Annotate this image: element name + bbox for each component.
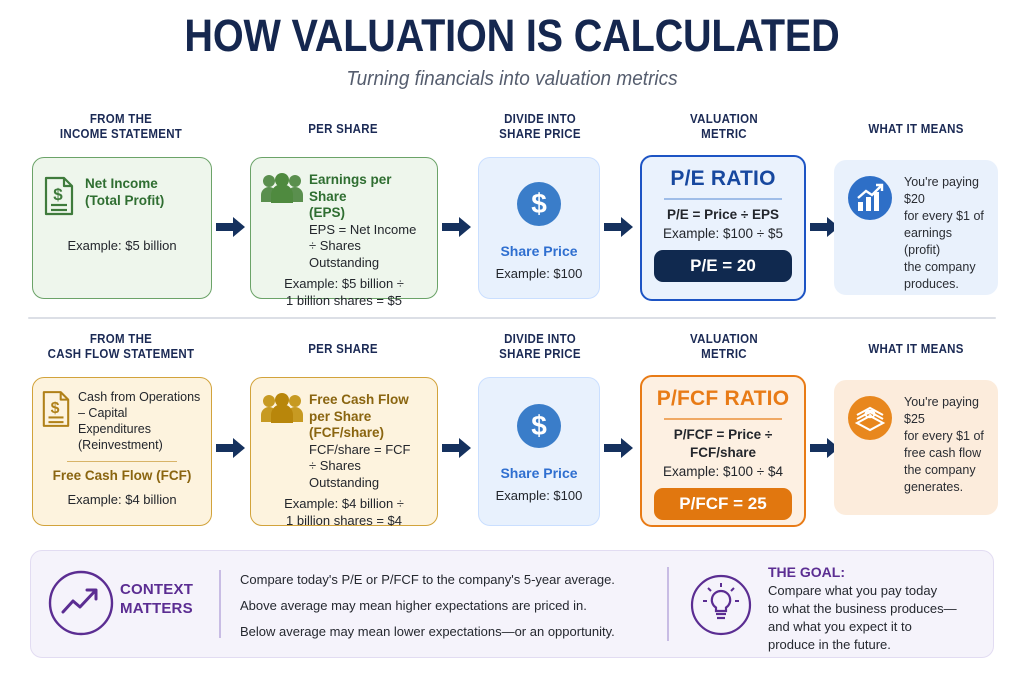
card-eps[interactable]: Earnings per Share (EPS) EPS = Net Incom… <box>250 157 438 299</box>
fcf-title-2: – Capital <box>78 405 203 421</box>
people-group-icon <box>261 172 305 209</box>
means-pe-line1: You're paying $20 <box>904 174 986 208</box>
arrow-right-icon <box>216 216 246 238</box>
divider <box>664 418 782 420</box>
arrow-right-icon <box>604 437 634 459</box>
eps-example-1: Example: $5 billion ÷ <box>261 275 427 292</box>
eps-formula-1: EPS = Net Income <box>309 222 427 239</box>
means-pe-line3: earnings (profit) <box>904 225 986 259</box>
arrow-right-icon <box>216 437 246 459</box>
svg-text:$: $ <box>531 410 547 441</box>
card-share-price-2[interactable]: $ Share Price Example: $100 <box>478 377 600 526</box>
page-title: HOW VALUATION IS CALCULATED <box>61 10 962 62</box>
divider <box>67 461 177 462</box>
goal-line-2: to what the business produces— <box>768 600 983 618</box>
context-line-2: Above average may mean higher expectatio… <box>240 593 640 619</box>
dollar-circle-icon: $ <box>489 402 589 455</box>
share-price-example: Example: $100 <box>489 265 589 282</box>
document-dollar-icon: $ <box>43 176 77 221</box>
means-pfcf-line3: free cash flow <box>904 445 986 462</box>
card-free-cash-flow[interactable]: $ Cash from Operations – Capital Expendi… <box>32 377 212 526</box>
card-what-it-means-pe[interactable]: You're paying $20 for every $1 of earnin… <box>834 160 998 295</box>
fcf-example: Example: $4 billion <box>41 491 203 508</box>
eps-formula-2: ÷ Shares Outstanding <box>309 238 427 271</box>
pfcf-result-badge: P/FCF = 25 <box>654 488 792 520</box>
colheader-source-row1: FROM THE INCOME STATEMENT <box>35 112 206 142</box>
goal-line-3: and what you expect it to <box>768 618 983 636</box>
colheader-pershare-row1: PER SHARE <box>257 122 428 137</box>
dollar-circle-icon: $ <box>489 180 589 233</box>
context-lines: Compare today's P/E or P/FCF to the comp… <box>240 567 640 645</box>
means-pfcf-line1: You're paying $25 <box>904 394 986 428</box>
lightbulb-circle-icon <box>690 574 752 641</box>
context-line-1: Compare today's P/E or P/FCF to the comp… <box>240 567 640 593</box>
context-line-3: Below average may mean lower expectation… <box>240 619 640 645</box>
svg-text:$: $ <box>51 400 60 417</box>
net-income-title-2: (Total Profit) <box>85 193 201 210</box>
pfcf-formula-1: P/FCF = Price ÷ <box>650 426 796 444</box>
colheader-divide-row2: DIVIDE INTO SHARE PRICE <box>476 332 605 362</box>
fcf-result: Free Cash Flow (FCF) <box>41 468 203 485</box>
net-income-title-1: Net Income <box>85 176 201 193</box>
means-pfcf-line5: generates. <box>904 479 986 496</box>
share-price-example-2: Example: $100 <box>489 487 589 504</box>
bar-chart-growth-icon <box>846 174 896 227</box>
net-income-example: Example: $5 billion <box>43 237 201 254</box>
eps-title-1: Earnings per Share <box>309 172 427 205</box>
colheader-means-row1: WHAT IT MEANS <box>841 122 992 137</box>
pfcf-example: Example: $100 ÷ $4 <box>650 462 796 481</box>
fcfps-example-1: Example: $4 billion ÷ <box>261 495 427 512</box>
means-pfcf-line2: for every $1 of <box>904 428 986 445</box>
colheader-metric-row1: VALUATION METRIC <box>651 112 796 142</box>
fcf-title-3: Expenditures <box>78 421 203 437</box>
colheader-pershare-row2: PER SHARE <box>257 342 428 357</box>
card-pfcf-ratio[interactable]: P/FCF RATIO P/FCF = Price ÷ FCF/share Ex… <box>640 375 806 527</box>
pfcf-ratio-title: P/FCF RATIO <box>650 387 796 411</box>
goal-line-4: produce in the future. <box>768 636 983 654</box>
colheader-means-row2: WHAT IT MEANS <box>841 342 992 357</box>
trending-up-circle-icon <box>48 570 114 641</box>
colheader-metric-row2: VALUATION METRIC <box>651 332 796 362</box>
svg-text:$: $ <box>531 188 547 219</box>
pe-result-badge: P/E = 20 <box>654 250 792 282</box>
arrow-right-icon <box>442 216 472 238</box>
goal-title: THE GOAL: <box>768 563 983 582</box>
page-subtitle: Turning financials into valuation metric… <box>26 68 999 91</box>
colheader-source-row2: FROM THE CASH FLOW STATEMENT <box>26 332 216 362</box>
arrow-right-icon <box>604 216 634 238</box>
goal-line-1: Compare what you pay today <box>768 582 983 600</box>
card-share-price[interactable]: $ Share Price Example: $100 <box>478 157 600 299</box>
fcf-title-4: (Reinvestment) <box>78 437 203 453</box>
infographic-page: HOW VALUATION IS CALCULATED Turning fina… <box>0 0 1024 683</box>
row-divider <box>28 317 996 319</box>
eps-example-2: 1 billion shares = $5 <box>261 292 427 309</box>
card-fcf-per-share[interactable]: Free Cash Flow per Share (FCF/share) FCF… <box>250 377 438 526</box>
card-what-it-means-pfcf[interactable]: $ You're paying $25 for every $1 of free… <box>834 380 998 515</box>
divider <box>667 567 669 641</box>
colheader-divide-row1: DIVIDE INTO SHARE PRICE <box>476 112 605 142</box>
card-pe-ratio[interactable]: P/E RATIO P/E = Price ÷ EPS Example: $10… <box>640 155 806 301</box>
document-dollar-icon: $ <box>41 389 73 434</box>
svg-text:$: $ <box>868 412 872 419</box>
divider <box>664 198 782 200</box>
fcfps-formula-1: FCF/share = FCF <box>309 442 427 459</box>
fcfps-title-1: Free Cash Flow <box>309 392 427 409</box>
divider <box>219 570 221 638</box>
fcfps-example-2: 1 billion shares = $4 <box>261 512 427 529</box>
means-pe-line4: the company <box>904 259 986 276</box>
fcfps-title-2: per Share (FCF/share) <box>309 409 427 442</box>
pe-formula: P/E = Price ÷ EPS <box>650 206 796 224</box>
pe-ratio-title: P/E RATIO <box>650 167 796 191</box>
context-matters-label: CONTEXT MATTERS <box>120 580 225 618</box>
share-price-label: Share Price <box>489 243 589 259</box>
eps-title-2: (EPS) <box>309 205 427 222</box>
means-pfcf-line4: the company <box>904 462 986 479</box>
pe-example: Example: $100 ÷ $5 <box>650 224 796 243</box>
money-stack-icon: $ <box>846 394 896 447</box>
pfcf-formula-2: FCF/share <box>650 444 796 462</box>
card-net-income[interactable]: $ Net Income (Total Profit) Example: $5 … <box>32 157 212 299</box>
arrow-right-icon <box>442 437 472 459</box>
share-price-label-2: Share Price <box>489 465 589 481</box>
fcf-title-1: Cash from Operations <box>78 389 203 405</box>
svg-text:$: $ <box>53 185 63 204</box>
means-pe-line5: produces. <box>904 276 986 293</box>
goal-block: THE GOAL: Compare what you pay today to … <box>768 563 983 654</box>
fcfps-formula-2: ÷ Shares Outstanding <box>309 458 427 491</box>
means-pe-line2: for every $1 of <box>904 208 986 225</box>
people-group-icon <box>261 392 305 429</box>
